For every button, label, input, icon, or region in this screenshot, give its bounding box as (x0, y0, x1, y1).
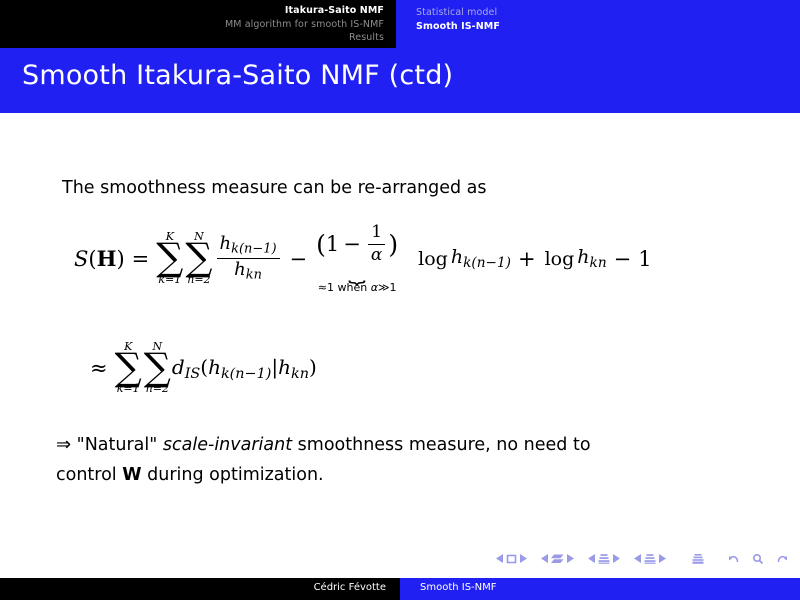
fraction-denominator: hkn (231, 259, 265, 284)
back-nav[interactable] (728, 553, 740, 565)
headline-section-mm-algorithm[interactable]: MM algorithm for smooth IS-NMF (0, 18, 384, 32)
slide-headline: Itakura-Saito NMF MM algorithm for smoot… (0, 0, 800, 50)
headline-subsection-statistical-model[interactable]: Statistical model (416, 6, 800, 20)
right-triangle-icon[interactable] (611, 553, 621, 564)
page-title: Smooth Itakura-Saito NMF (ctd) (22, 60, 453, 91)
conclusion-text-end: during optimization. (147, 465, 323, 485)
forward-arrow-icon[interactable] (776, 553, 788, 565)
conclusion-quoted: "Natural" (77, 435, 158, 455)
sigma-glyph: ∑ (115, 352, 142, 383)
summation-k: K ∑ k=1 (115, 341, 142, 395)
underbrace-icon: ⏟ (348, 267, 365, 277)
section-icon[interactable] (643, 553, 657, 565)
constant-one: 1 (638, 247, 651, 271)
conclusion-matrix-symbol: W (122, 465, 141, 485)
is-divergence-term: dIS(hk(n−1)|hkn) (172, 355, 317, 382)
sigma-glyph: ∑ (156, 242, 183, 273)
headline-sections: Itakura-Saito NMF MM algorithm for smoot… (0, 0, 396, 48)
frame-nav[interactable] (540, 553, 575, 565)
equation-relation-equals: = (132, 247, 150, 271)
implies-icon: ⇒ (56, 434, 71, 455)
log-operator-2: log (545, 248, 575, 270)
back-arrow-icon[interactable] (728, 553, 740, 565)
sigma-glyph: ∑ (185, 242, 212, 273)
intro-paragraph: The smoothness measure can be re-arrange… (62, 178, 487, 198)
search-icon[interactable] (752, 553, 764, 565)
presentation-icon[interactable] (691, 553, 705, 565)
conclusion-emphasis: scale-invariant (163, 435, 292, 455)
left-triangle-icon[interactable] (587, 553, 597, 564)
ratio-fraction: hk(n−1) hkn (217, 234, 280, 284)
beamer-navigation-symbols (0, 548, 800, 572)
left-triangle-icon[interactable] (540, 553, 550, 564)
equation-lhs: S(H) (74, 246, 125, 271)
alpha-reciprocal-fraction: 1 α (368, 223, 385, 265)
right-triangle-icon[interactable] (518, 553, 528, 564)
minus-operator-2: − (614, 247, 632, 271)
subsection-icon[interactable] (597, 553, 611, 565)
slide-content: The smoothness measure can be re-arrange… (0, 113, 800, 545)
slide-footline: Cédric Févotte Smooth IS-NMF (0, 578, 800, 600)
equation-line-2: ≈ K ∑ k=1 N ∑ n=2 dIS(hk(n−1)|hkn) (90, 341, 317, 395)
minus-operator: − (290, 247, 308, 271)
summation-k: K ∑ k=1 (156, 231, 183, 285)
presentation-nav[interactable] (691, 553, 705, 565)
underbrace-group: ( 1 − 1 α ) ⏟ ≈1 when α≫1 (316, 223, 398, 294)
title-bar: Smooth Itakura-Saito NMF (ctd) (0, 50, 800, 113)
headline-section-itakura-saito-nmf[interactable]: Itakura-Saito NMF (0, 4, 384, 18)
subsection-nav[interactable] (587, 553, 621, 565)
fraction-numerator: hk(n−1) (217, 234, 280, 259)
log-operator-1: log (418, 248, 448, 270)
left-triangle-icon[interactable] (495, 553, 505, 564)
footer-subsection: Smooth IS-NMF (400, 578, 800, 600)
headline-subsections: Statistical model Smooth IS-NMF (396, 0, 800, 48)
conclusion-paragraph: ⇒ "Natural" scale-invariant smoothness m… (56, 430, 716, 490)
section-nav[interactable] (633, 553, 667, 565)
footer-author: Cédric Févotte (0, 578, 400, 600)
search-nav[interactable] (752, 553, 764, 565)
equation-line-1: S(H) = K ∑ k=1 N ∑ n=2 hk(n−1) hkn − ( (74, 223, 652, 294)
forward-nav[interactable] (776, 553, 788, 565)
slide-icon[interactable] (505, 553, 518, 565)
log-argument-1: hk(n−1) (451, 246, 511, 271)
equation-relation-approx: ≈ (90, 356, 108, 380)
frame-icon[interactable] (550, 553, 565, 565)
log-argument-2: hkn (577, 246, 606, 271)
left-triangle-icon[interactable] (633, 553, 643, 564)
summation-n: N ∑ n=2 (185, 231, 212, 285)
right-triangle-icon[interactable] (565, 553, 575, 564)
headline-subsection-smooth-is-nmf[interactable]: Smooth IS-NMF (416, 20, 800, 34)
headline-section-results[interactable]: Results (0, 31, 384, 45)
summation-n: N ∑ n=2 (144, 341, 171, 395)
plus-operator: + (518, 247, 536, 271)
slide-nav[interactable] (495, 553, 528, 565)
right-triangle-icon[interactable] (657, 553, 667, 564)
underbrace-expression: ( 1 − 1 α ) (316, 223, 398, 265)
sigma-glyph: ∑ (144, 352, 171, 383)
